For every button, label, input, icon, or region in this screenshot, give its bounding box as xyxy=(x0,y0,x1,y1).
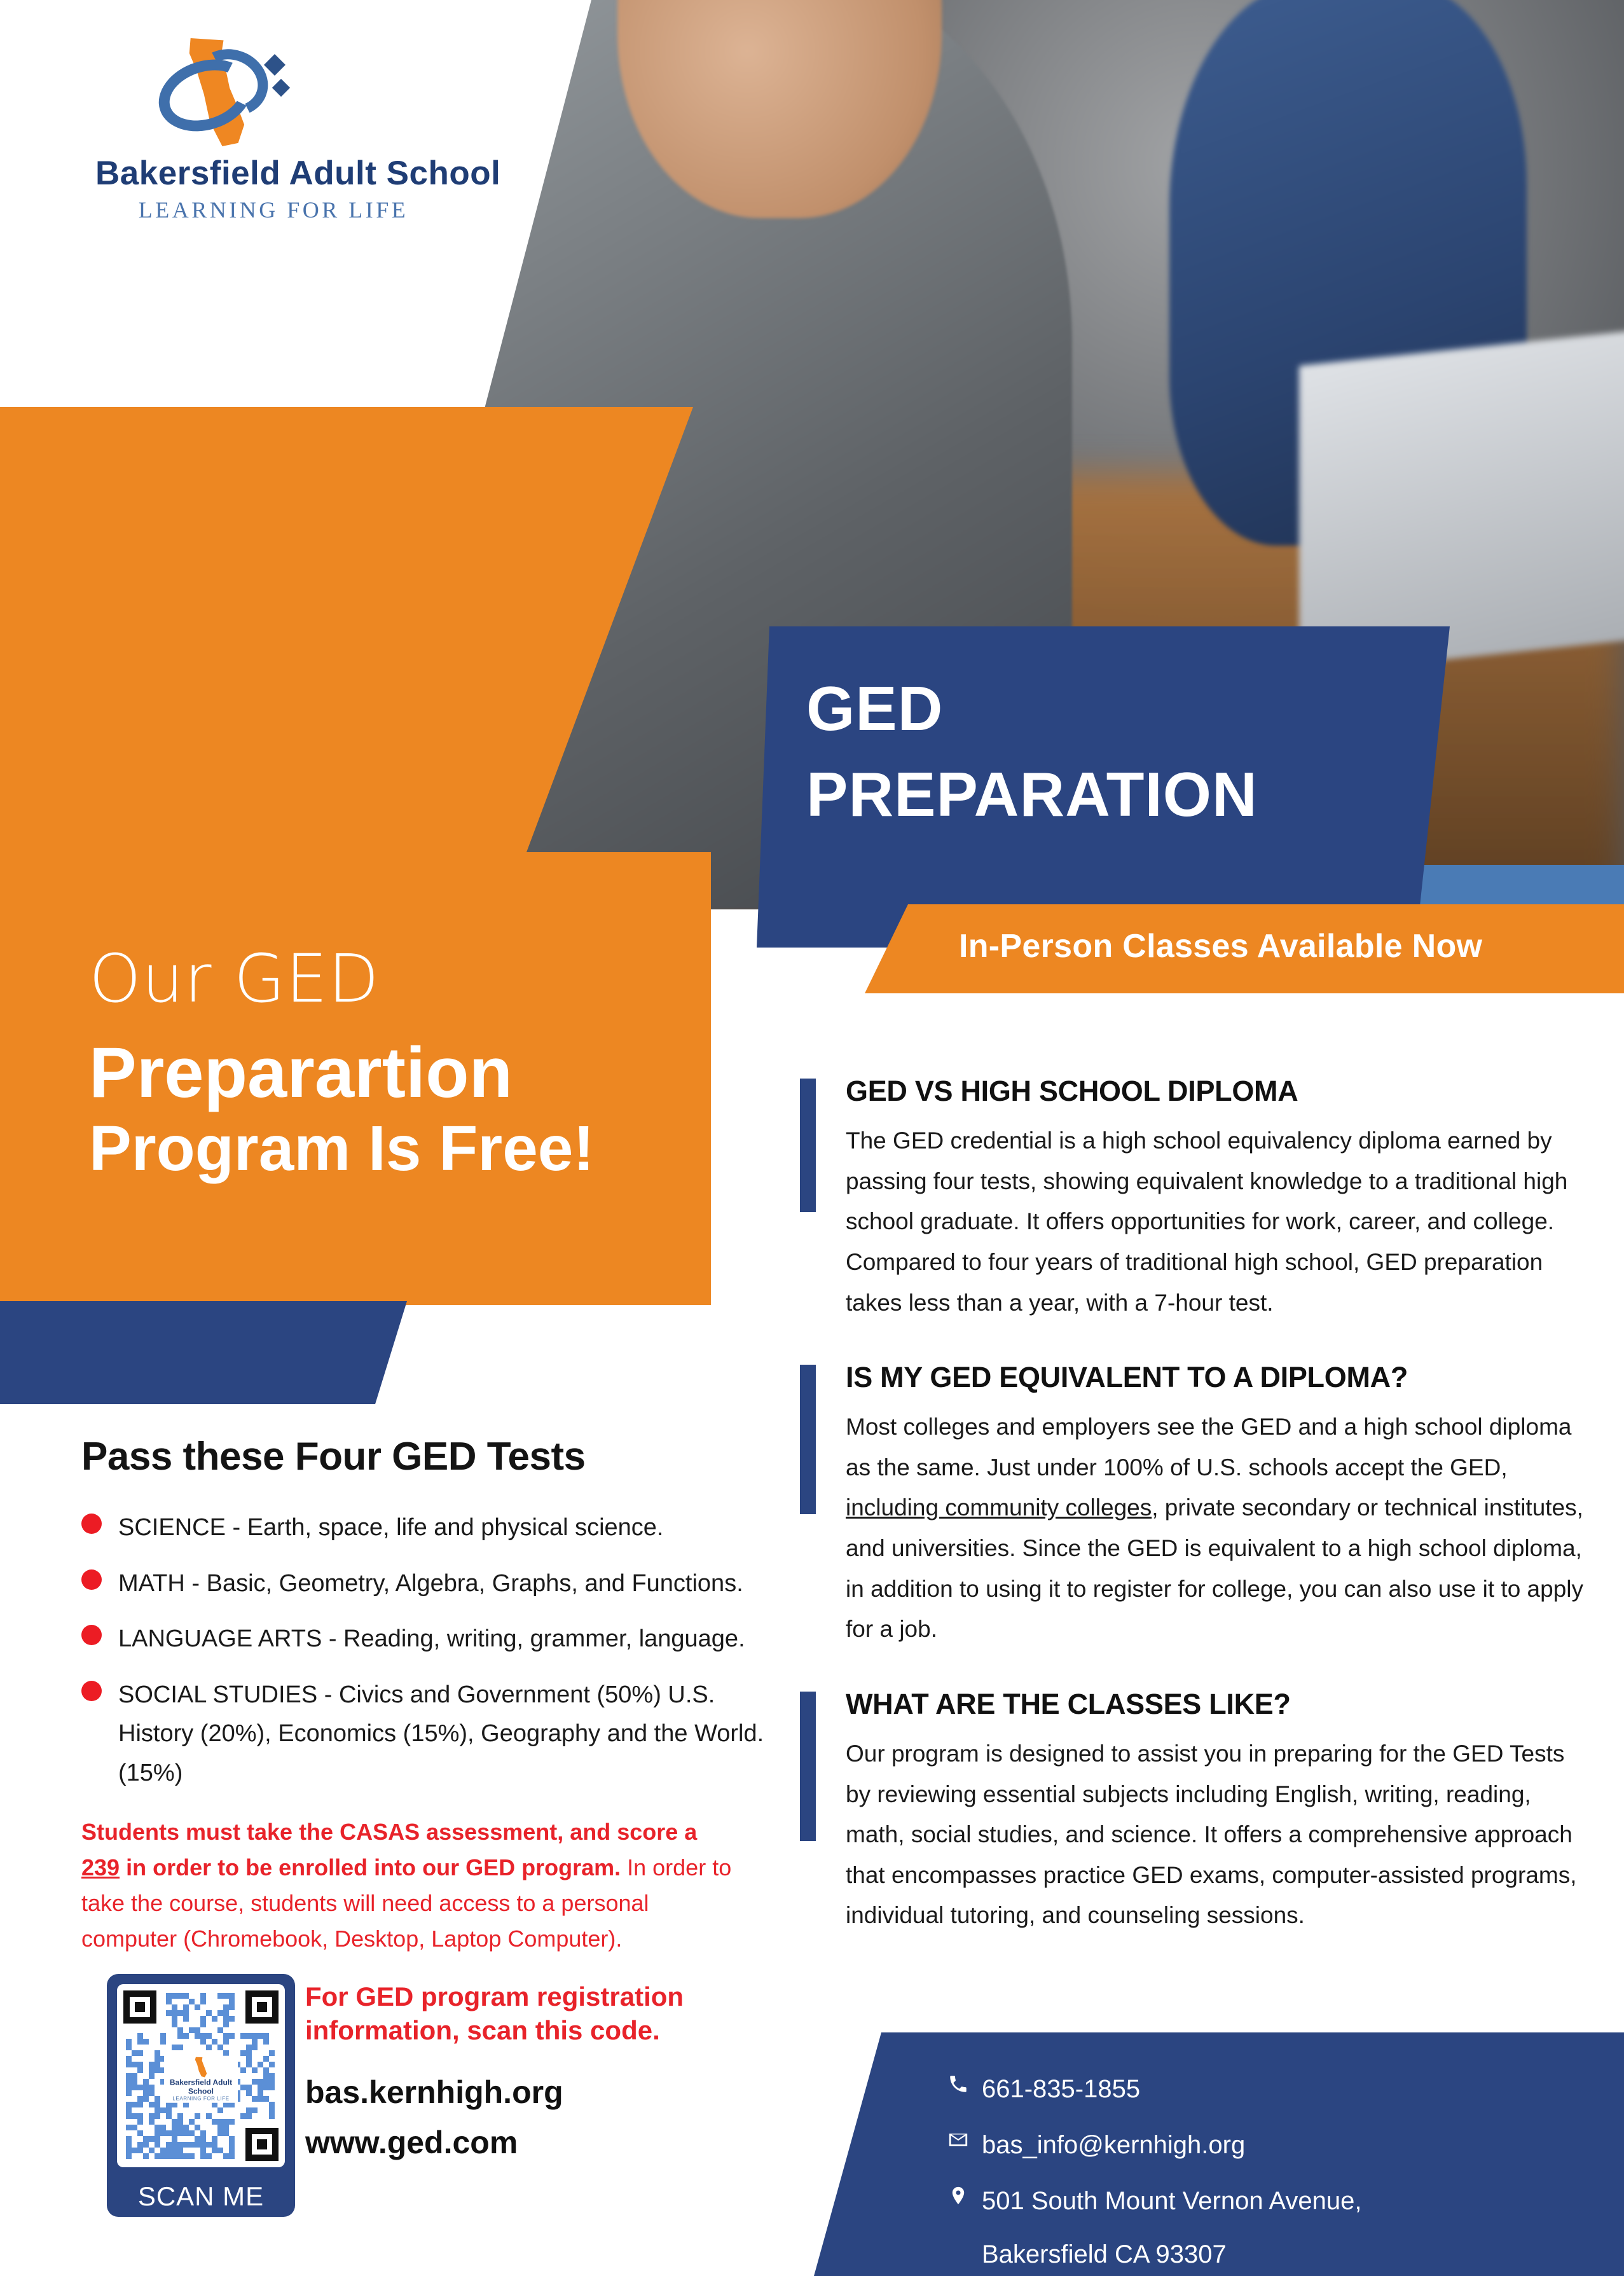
contact-email: bas_info@kernhigh.org xyxy=(982,2127,1245,2163)
qr-finder-top-left-icon xyxy=(123,1990,156,2024)
section-heading: GED VS HIGH SCHOOL DIPLOMA xyxy=(846,1075,1588,1108)
qr-logo-tagline: LEARNING FOR LIFE xyxy=(164,2096,238,2102)
section-is-ged-equivalent: IS MY GED EQUIVALENT TO A DIPLOMA? Most … xyxy=(800,1361,1588,1650)
hero-title-line-1: GED xyxy=(806,666,1258,752)
casas-notice: Students must take the CASAS assessment,… xyxy=(81,1814,740,1956)
section-body-underlined: including community colleges xyxy=(846,1494,1152,1521)
location-pin-icon xyxy=(947,2183,982,2207)
contact-phone-row[interactable]: 661-835-1855 xyxy=(947,2071,1362,2107)
section-heading: WHAT ARE THE CLASSES LIKE? xyxy=(846,1688,1588,1721)
casas-notice-lead: Students must take the CASAS assessment,… xyxy=(81,1819,697,1845)
list-item: SOCIAL STUDIES - Civics and Government (… xyxy=(81,1676,774,1793)
logo-school-name: Bakersfield Adult School xyxy=(95,154,451,193)
list-item: LANGUAGE ARTS - Reading, writing, gramme… xyxy=(81,1620,774,1659)
test-item-label: MATH - Basic, Geometry, Algebra, Graphs,… xyxy=(118,1564,743,1604)
section-heading: IS MY GED EQUIVALENT TO A DIPLOMA? xyxy=(846,1361,1588,1394)
california-swoosh-icon xyxy=(153,36,312,150)
envelope-icon xyxy=(947,2127,982,2151)
scan-me-label: SCAN ME xyxy=(138,2181,264,2212)
bullet-dot-icon xyxy=(81,1514,102,1534)
four-tests-section: Pass these Four GED Tests SCIENCE - Eart… xyxy=(81,1434,774,1956)
phone-icon xyxy=(947,2071,982,2095)
qr-logo-name: Bakersfield Adult School xyxy=(164,2078,238,2096)
section-accent-bar xyxy=(800,1079,816,1212)
flyer-canvas: Bakersfield Adult School LEARNING FOR LI… xyxy=(0,0,1624,2276)
list-item: SCIENCE - Earth, space, life and physica… xyxy=(81,1508,774,1548)
qr-card[interactable]: Bakersfield Adult School LEARNING FOR LI… xyxy=(107,1974,295,2217)
photo-laptop xyxy=(1299,325,1624,675)
in-person-banner: In-Person Classes Available Now xyxy=(865,904,1624,993)
section-accent-bar xyxy=(800,1365,816,1514)
qr-code-block[interactable]: Bakersfield Adult School LEARNING FOR LI… xyxy=(107,1974,295,2217)
qr-finder-bottom-right-icon xyxy=(245,2128,279,2161)
qr-call-to-action: For GED program registration information… xyxy=(305,1980,776,2047)
hero-title-card: GED PREPARATION xyxy=(757,626,1450,948)
qr-instructions-block: For GED program registration information… xyxy=(305,1980,776,2167)
bullet-dot-icon xyxy=(81,1681,102,1701)
casas-notice-bold-tail: in order to be enrolled into our GED pro… xyxy=(120,1854,621,1880)
info-sections: GED VS HIGH SCHOOL DIPLOMA The GED crede… xyxy=(800,1075,1588,1974)
promo-line-3: Program Is Free! xyxy=(89,1113,712,1184)
section-body: Most colleges and employers see the GED … xyxy=(846,1407,1588,1650)
bullet-dot-icon xyxy=(81,1625,102,1645)
hero-title-line-2: PREPARATION xyxy=(806,752,1258,838)
section-body-part1: Most colleges and employers see the GED … xyxy=(846,1414,1571,1480)
four-tests-heading: Pass these Four GED Tests xyxy=(81,1434,774,1479)
contact-footer: 661-835-1855 bas_info@kernhigh.org 501 S… xyxy=(814,2032,1624,2276)
navy-divider-band xyxy=(0,1301,407,1404)
qr-code-image[interactable]: Bakersfield Adult School LEARNING FOR LI… xyxy=(117,1984,285,2167)
casas-score: 239 xyxy=(81,1854,120,1880)
website-link-bas[interactable]: bas.kernhigh.org xyxy=(305,2069,776,2116)
qr-california-icon xyxy=(195,2057,207,2077)
test-item-label: SOCIAL STUDIES - Civics and Government (… xyxy=(118,1676,774,1793)
in-person-banner-label: In-Person Classes Available Now xyxy=(959,927,1482,965)
light-blue-accent-bar xyxy=(1415,865,1624,905)
bullet-dot-icon xyxy=(81,1569,102,1590)
hero-title: GED PREPARATION xyxy=(806,666,1258,838)
section-what-are-classes-like: WHAT ARE THE CLASSES LIKE? Our program i… xyxy=(800,1688,1588,1936)
test-item-label: LANGUAGE ARTS - Reading, writing, gramme… xyxy=(118,1620,745,1659)
contact-address: 501 South Mount Vernon Avenue, Bakersfie… xyxy=(982,2183,1362,2273)
promo-heading: Our GED Preparartion Program Is Free! xyxy=(89,944,712,1184)
test-item-label: SCIENCE - Earth, space, life and physica… xyxy=(118,1508,664,1548)
section-body: Our program is designed to assist you in… xyxy=(846,1734,1588,1936)
section-body: The GED credential is a high school equi… xyxy=(846,1121,1588,1323)
contact-rows: 661-835-1855 bas_info@kernhigh.org 501 S… xyxy=(947,2071,1362,2276)
qr-embedded-logo: Bakersfield Adult School LEARNING FOR LI… xyxy=(164,2055,238,2103)
logo-tagline: LEARNING FOR LIFE xyxy=(95,197,451,223)
school-logo: Bakersfield Adult School LEARNING FOR LI… xyxy=(95,36,451,223)
contact-address-line-2: Bakersfield CA 93307 xyxy=(982,2236,1362,2273)
section-ged-vs-diploma: GED VS HIGH SCHOOL DIPLOMA The GED crede… xyxy=(800,1075,1588,1323)
contact-email-row[interactable]: bas_info@kernhigh.org xyxy=(947,2127,1362,2163)
contact-phone: 661-835-1855 xyxy=(982,2071,1140,2107)
promo-line-2: Preparartion xyxy=(89,1033,712,1112)
list-item: MATH - Basic, Geometry, Algebra, Graphs,… xyxy=(81,1564,774,1604)
contact-address-line-1: 501 South Mount Vernon Avenue, xyxy=(982,2183,1362,2219)
website-link-ged[interactable]: www.ged.com xyxy=(305,2119,776,2167)
contact-address-row: 501 South Mount Vernon Avenue, Bakersfie… xyxy=(947,2183,1362,2273)
section-accent-bar xyxy=(800,1692,816,1841)
promo-line-1: Our GED xyxy=(89,944,712,1014)
qr-finder-top-right-icon xyxy=(245,1990,279,2024)
